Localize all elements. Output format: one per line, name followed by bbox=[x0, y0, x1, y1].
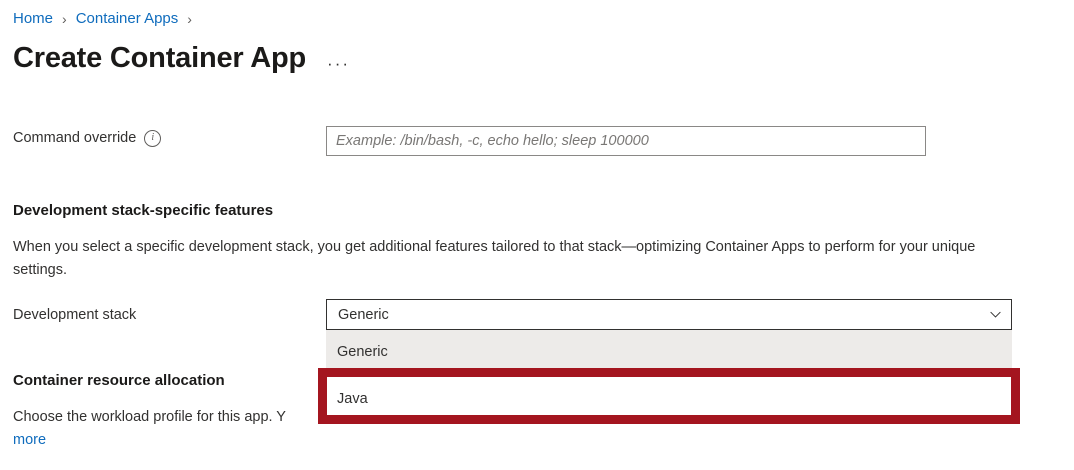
dropdown-option-generic[interactable]: Generic bbox=[326, 330, 1012, 374]
command-override-label: Command override bbox=[13, 128, 161, 148]
development-stack-label: Development stack bbox=[13, 305, 136, 325]
breadcrumb-separator-icon: › bbox=[62, 8, 67, 30]
dev-stack-section-heading: Development stack-specific features bbox=[13, 201, 713, 221]
resource-allocation-section-description: Choose the workload profile for this app… bbox=[13, 406, 323, 429]
more-menu-icon[interactable]: ··· bbox=[327, 55, 350, 72]
development-stack-dropdown-list: Generic Java bbox=[326, 330, 1012, 424]
breadcrumb-item-container-apps[interactable]: Container Apps bbox=[76, 8, 179, 30]
learn-more-link[interactable]: more bbox=[13, 432, 46, 448]
command-override-input[interactable] bbox=[326, 126, 926, 156]
development-stack-label-text: Development stack bbox=[13, 305, 136, 325]
breadcrumb: Home › Container Apps › bbox=[13, 8, 201, 30]
breadcrumb-item-home[interactable]: Home bbox=[13, 8, 53, 30]
breadcrumb-separator-icon: › bbox=[187, 8, 192, 30]
command-override-label-text: Command override bbox=[13, 128, 136, 148]
development-stack-selected-value: Generic bbox=[338, 307, 989, 323]
resource-allocation-section-heading: Container resource allocation bbox=[13, 371, 313, 391]
development-stack-combobox[interactable]: Generic bbox=[326, 299, 1012, 330]
dropdown-option-java[interactable]: Java bbox=[326, 374, 1012, 424]
page-header: Create Container App ··· bbox=[13, 38, 350, 78]
info-icon[interactable] bbox=[144, 130, 161, 147]
dev-stack-section-description: When you select a specific development s… bbox=[13, 236, 1013, 282]
dropdown-option-generic-label: Generic bbox=[337, 344, 388, 360]
page-title: Create Container App bbox=[13, 38, 306, 78]
chevron-down-icon[interactable] bbox=[989, 308, 1002, 321]
dropdown-option-java-label: Java bbox=[337, 391, 368, 407]
